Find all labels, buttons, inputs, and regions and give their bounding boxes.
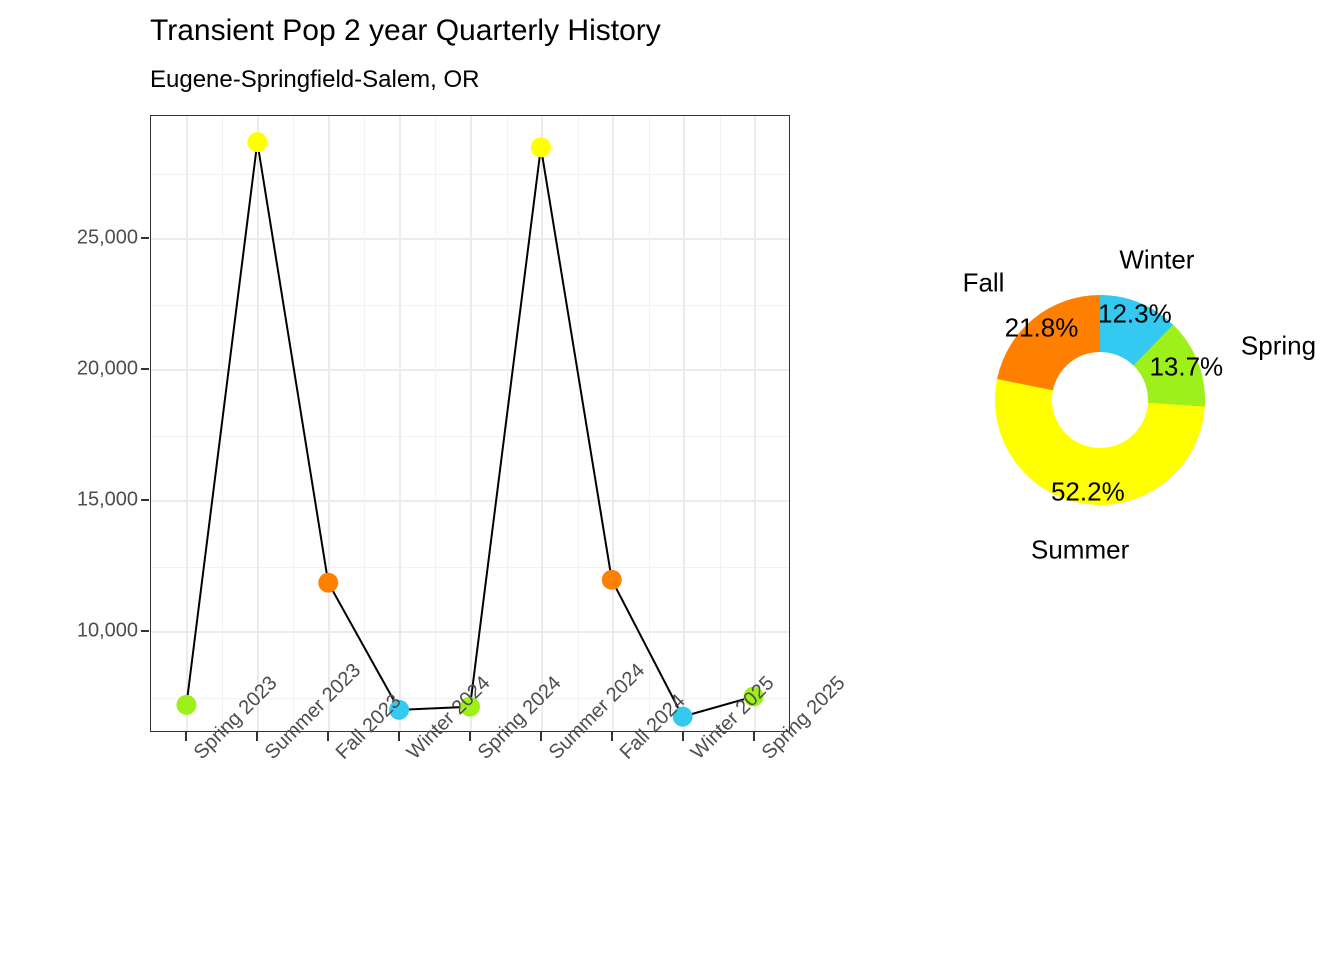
x-tick-mark bbox=[682, 732, 684, 741]
series-polyline bbox=[186, 142, 753, 717]
x-tick-label: Spring 2025 bbox=[758, 748, 774, 764]
x-tick-mark bbox=[327, 732, 329, 741]
x-tick-mark bbox=[185, 732, 187, 741]
x-tick-label: Spring 2023 bbox=[189, 748, 205, 764]
donut-label-summer: Summer bbox=[1031, 534, 1129, 565]
donut-percent-spring: 13.7% bbox=[1149, 351, 1223, 382]
x-tick-label: Winter 2024 bbox=[403, 748, 419, 764]
page-title: Transient Pop 2 year Quarterly History bbox=[150, 14, 661, 48]
y-tick-mark bbox=[141, 368, 149, 370]
y-tick-mark bbox=[141, 237, 149, 239]
donut-percent-fall: 21.8% bbox=[1005, 313, 1079, 344]
data-point-summer bbox=[531, 137, 551, 157]
y-tick-mark bbox=[141, 630, 149, 632]
x-tick-label: Winter 2025 bbox=[687, 748, 703, 764]
x-tick-mark bbox=[256, 732, 258, 741]
donut-label-fall: Fall bbox=[963, 268, 1005, 299]
data-point-summer bbox=[247, 132, 267, 152]
data-point-fall bbox=[318, 573, 338, 593]
x-tick-label: Spring 2024 bbox=[474, 748, 490, 764]
y-tick-label: 10,000 bbox=[77, 620, 138, 643]
line-chart bbox=[150, 115, 790, 732]
data-point-spring bbox=[176, 695, 196, 715]
x-tick-mark bbox=[611, 732, 613, 741]
donut-chart: 12.3%Winter13.7%Spring52.2%Summer21.8%Fa… bbox=[900, 160, 1344, 660]
x-tick-label: Summer 2024 bbox=[545, 748, 561, 764]
y-tick-label: 15,000 bbox=[77, 489, 138, 512]
x-tick-label: Fall 2023 bbox=[332, 748, 348, 764]
donut-svg bbox=[900, 160, 1344, 660]
series-points bbox=[176, 132, 763, 726]
donut-label-winter: Winter bbox=[1119, 245, 1194, 276]
y-tick-label: 20,000 bbox=[77, 358, 138, 381]
donut-percent-winter: 12.3% bbox=[1098, 299, 1172, 330]
donut-label-spring: Spring bbox=[1241, 330, 1316, 361]
page-subtitle: Eugene-Springfield-Salem, OR bbox=[150, 66, 480, 94]
x-tick-mark bbox=[753, 732, 755, 741]
y-tick-mark bbox=[141, 499, 149, 501]
y-axis-labels: 25,00020,00015,00010,000 bbox=[20, 115, 138, 732]
data-point-fall bbox=[602, 570, 622, 590]
x-tick-mark bbox=[469, 732, 471, 741]
donut-percent-summer: 52.2% bbox=[1051, 476, 1125, 507]
y-tick-label: 25,000 bbox=[77, 227, 138, 250]
x-axis-labels: Spring 2023Summer 2023Fall 2023Winter 20… bbox=[150, 744, 790, 914]
plot-panel bbox=[150, 115, 790, 732]
x-tick-label: Fall 2024 bbox=[616, 748, 632, 764]
x-tick-mark bbox=[398, 732, 400, 741]
line-series-layer bbox=[151, 116, 789, 731]
x-tick-mark bbox=[540, 732, 542, 741]
x-tick-label: Summer 2023 bbox=[260, 748, 276, 764]
line-series-svg bbox=[151, 116, 789, 731]
